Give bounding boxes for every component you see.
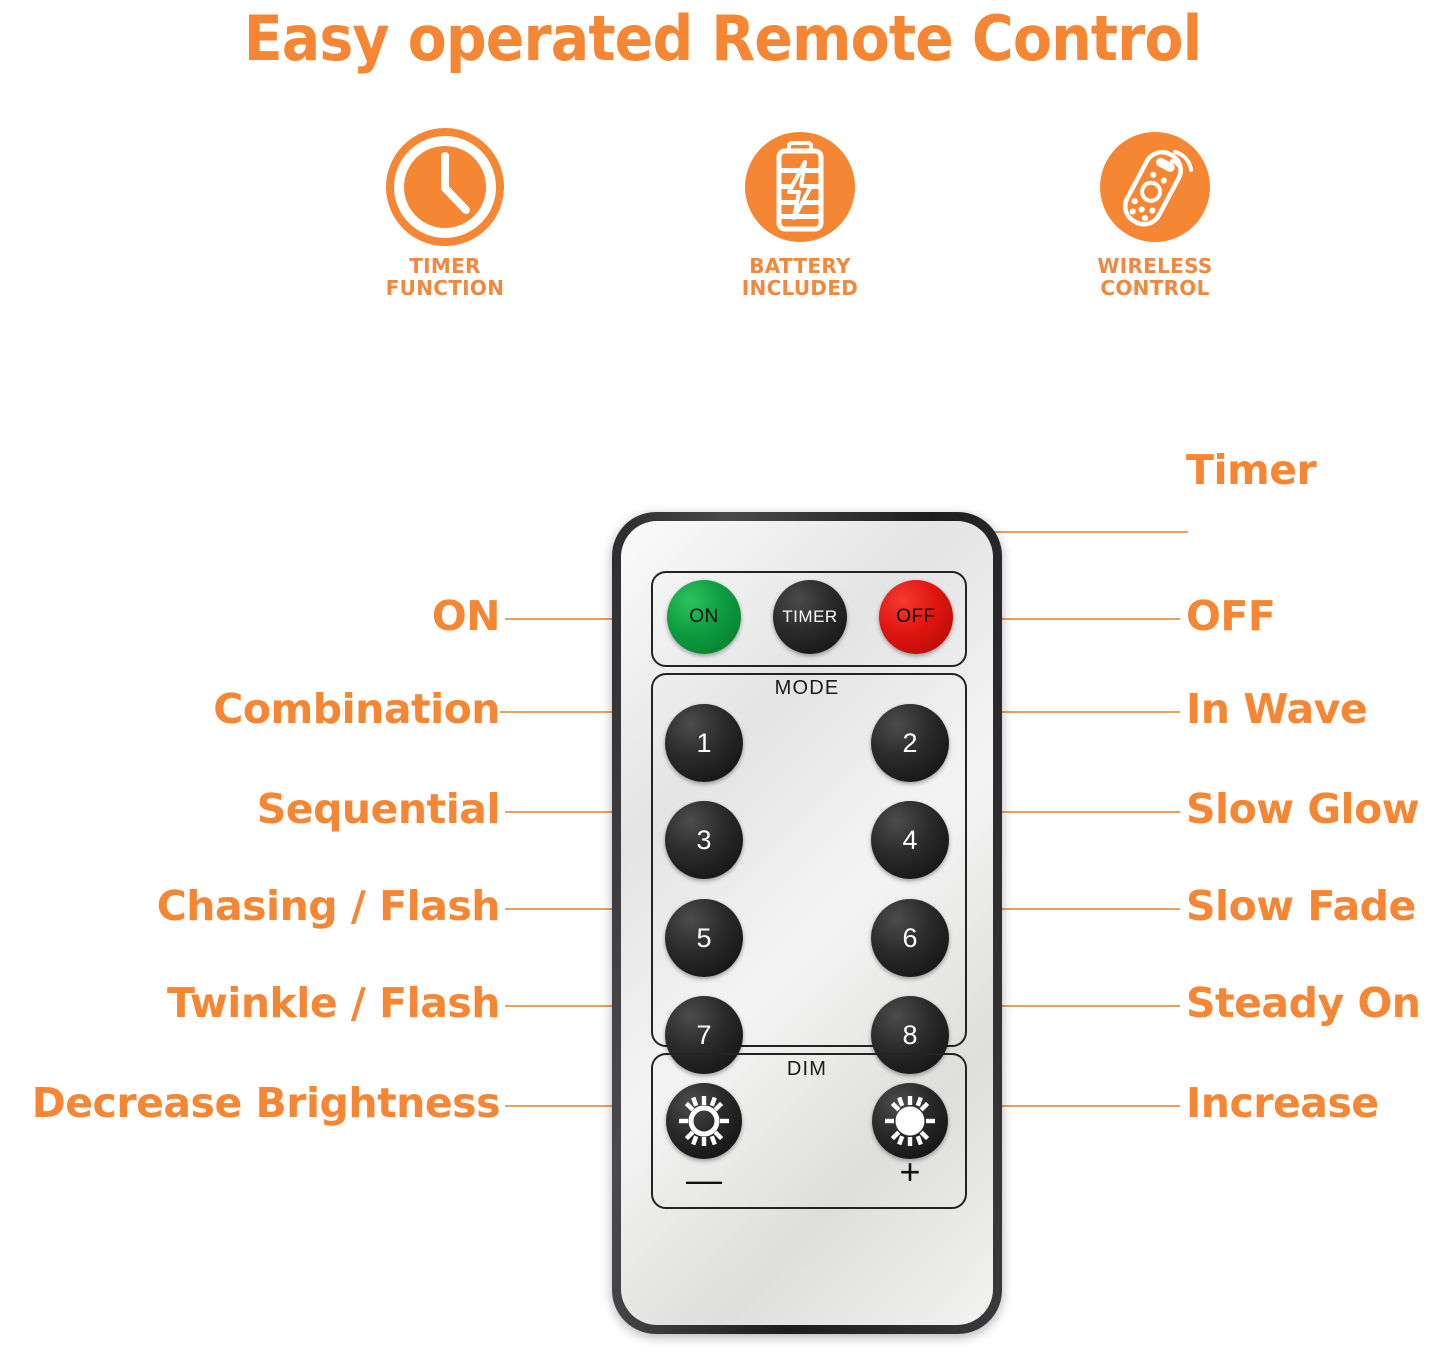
feature-badges: TIMER FUNCTION BATTERY INCLUDED [330, 128, 1270, 318]
mode-button-5[interactable]: 5 [665, 899, 743, 977]
remote-faceplate: ON TIMER OFF MODE 1 2 3 4 5 6 7 8 DIM [621, 521, 993, 1325]
feature-wireless-control: WIRELESS CONTROL [1040, 128, 1270, 300]
mode-button-1[interactable]: 1 [665, 704, 743, 782]
mode-panel-label: MODE [621, 677, 993, 700]
timer-button[interactable]: TIMER [773, 580, 847, 654]
callout-twinkle-flash: Twinkle / Flash [167, 979, 500, 1027]
callout-in-wave: In Wave [1186, 685, 1367, 733]
callout-off: OFF [1186, 592, 1275, 640]
mode-button-3[interactable]: 3 [665, 801, 743, 879]
feature-label: WIRELESS CONTROL [1097, 255, 1212, 300]
remote-control-device: ON TIMER OFF MODE 1 2 3 4 5 6 7 8 DIM [612, 512, 1002, 1334]
sun-filled-icon [882, 1093, 938, 1149]
off-button[interactable]: OFF [879, 580, 953, 654]
dim-decrease-button[interactable] [666, 1083, 742, 1159]
callout-slow-glow: Slow Glow [1186, 785, 1419, 833]
feature-label: TIMER FUNCTION [386, 255, 505, 300]
callout-on: ON [432, 592, 500, 640]
feature-battery-included: BATTERY INCLUDED [685, 128, 915, 300]
callout-steady-on: Steady On [1186, 979, 1421, 1027]
mode-button-6[interactable]: 6 [871, 899, 949, 977]
mode-button-2[interactable]: 2 [871, 704, 949, 782]
callout-decrease-brightness: Decrease Brightness [32, 1079, 500, 1127]
on-button[interactable]: ON [667, 580, 741, 654]
dim-panel-label: DIM [621, 1058, 993, 1081]
dim-plus-sign: + [870, 1151, 950, 1193]
callout-slow-fade: Slow Fade [1186, 882, 1416, 930]
mode-button-4[interactable]: 4 [871, 801, 949, 879]
page-title: Easy operated Remote Control [58, 2, 1387, 75]
remote-signal-icon [1096, 128, 1214, 246]
callout-timer: Timer [1186, 446, 1316, 494]
clock-icon [386, 128, 504, 246]
dim-increase-button[interactable] [872, 1083, 948, 1159]
callout-increase: Increase [1186, 1079, 1379, 1127]
callout-chasing-flash: Chasing / Flash [157, 882, 500, 930]
battery-icon [741, 128, 859, 246]
sun-outline-icon [676, 1093, 732, 1149]
feature-timer-function: TIMER FUNCTION [330, 128, 560, 300]
dim-minus-sign: — [664, 1159, 744, 1201]
callout-sequential: Sequential [257, 785, 500, 833]
callout-combination: Combination [213, 685, 500, 733]
feature-label: BATTERY INCLUDED [742, 255, 858, 300]
